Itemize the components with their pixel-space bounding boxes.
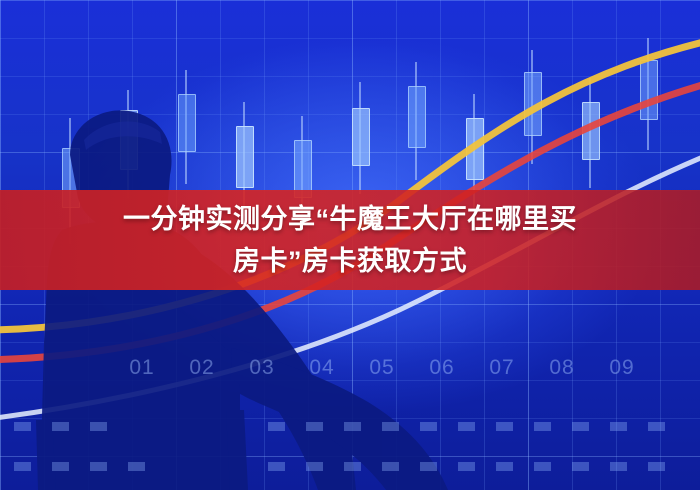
axis-tick: 05 [352, 356, 412, 380]
axis-tick: 06 [412, 356, 472, 380]
axis-tick: 01 [112, 356, 172, 380]
axis-tick: 03 [232, 356, 292, 380]
axis-tick: 02 [172, 356, 232, 380]
banner-line-1: 一分钟实测分享“牛魔王大厅在哪里买 [123, 198, 577, 240]
axis-tick: 07 [472, 356, 532, 380]
x-axis-tick-labels: 01 02 03 04 05 06 07 08 09 [0, 348, 700, 388]
promo-image: 01 02 03 04 05 06 07 08 09 一分钟实测分享“牛魔王大厅… [0, 0, 700, 490]
banner-line-2: 房卡”房卡获取方式 [233, 240, 467, 282]
axis-tick: 09 [592, 356, 652, 380]
axis-tick: 08 [532, 356, 592, 380]
ticker-dash-row-1 [0, 422, 700, 432]
axis-tick: 04 [292, 356, 352, 380]
title-banner-text: 一分钟实测分享“牛魔王大厅在哪里买 房卡”房卡获取方式 [0, 186, 700, 294]
ticker-dash-row-2 [0, 462, 700, 472]
